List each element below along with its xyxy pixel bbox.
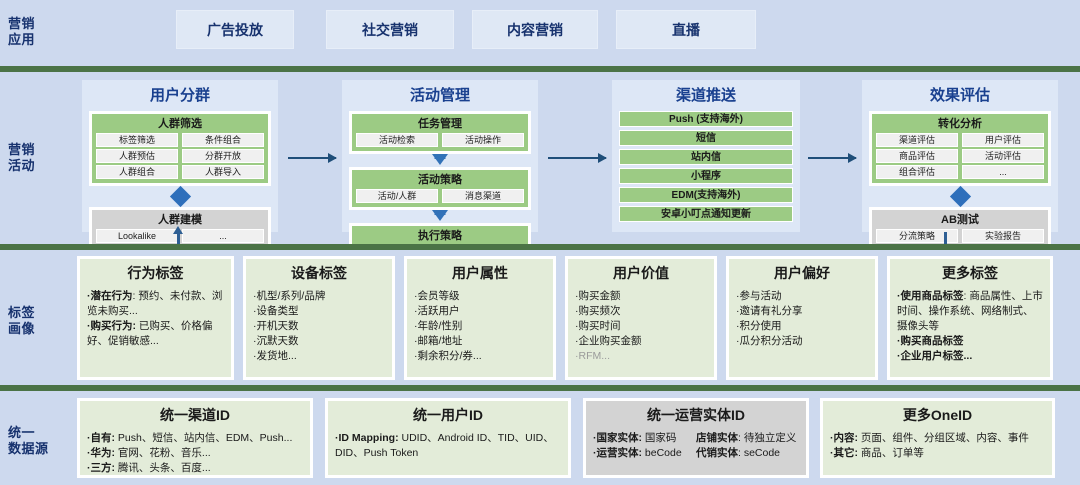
datasource-line-text: Push、短信、站内信、EDM、Push... [115,432,292,444]
group-cell[interactable]: 用户评估 [962,133,1044,147]
tag-card-device[interactable]: 设备标签 ·机型/系列/品牌 ·设备类型 ·开机天数 ·沉默天数 ·发货地... [243,256,395,380]
tag-line: ·剩余积分/券... [414,349,546,364]
datasource-line-bold: 代销实体 [696,447,738,459]
tag-card-title: 用户价值 [575,264,707,283]
tag-line: ·购买时间 [575,319,707,334]
app-card-3[interactable]: 直播 [616,10,756,49]
datasource-line-bold: ·三方: [87,462,115,474]
datasource-card-operating-entity-id[interactable]: 统一运营实体ID ·国家实体: 国家码 ·运营实体: beCode 店铺实体: … [583,398,809,478]
datasource-line-text: : 待独立定义 [738,432,796,444]
group-cell[interactable]: ... [962,165,1044,179]
datasource-line-bold: ·内容: [830,432,858,444]
tag-line: ·购买金额 [575,289,707,304]
datasource-line-text: : seCode [738,447,780,459]
group-head: 人群建模 [96,213,264,227]
datasource-card-title: 统一运营实体ID [593,406,799,425]
datasource-card-title: 统一渠道ID [87,406,303,425]
tag-line: ·使用商品标签: 商品属性、上市时间、操作系统、网络制式、摄像头等 [897,289,1043,334]
tag-line: ·购买行为: 已购买、价格偏好、促销敏感... [87,319,224,349]
app-card-1[interactable]: 社交营销 [326,10,454,49]
datasource-line: ·三方: 腾讯、头条、百度... [87,461,303,476]
panel-effect-evaluation: 效果评估 转化分析 渠道评估 用户评估 商品评估 活动评估 组合评估 ... A… [862,80,1058,232]
tag-line: ·参与活动 [736,289,868,304]
tag-card-user-value[interactable]: 用户价值 ·购买金额 ·购买频次 ·购买时间 ·企业购买金额 ·RFM... [565,256,717,380]
datasource-line-bold: ·其它: [830,447,858,459]
tag-line-bold: ·购买行为: [87,320,136,332]
datasource-line-bold: ·国家实体: [593,432,642,444]
group-cell[interactable]: Lookalike [96,229,178,243]
datasource-column-right: 店铺实体: 待独立定义 代销实体: seCode [696,431,799,461]
tag-card-user-attributes[interactable]: 用户属性 ·会员等级 ·活跃用户 ·年龄/性别 ·邮箱/地址 ·剩余积分/券..… [404,256,556,380]
tag-card-user-preference[interactable]: 用户偏好 ·参与活动 ·邀请有礼分享 ·积分使用 ·瓜分积分活动 [726,256,878,380]
tag-line: ·潜在行为: 预约、未付款、浏览未购买... [87,289,224,319]
tag-card-title: 行为标签 [87,264,224,283]
datasource-column-left: ·国家实体: 国家码 ·运营实体: beCode [593,431,696,461]
architecture-diagram: 营销 应用 广告投放 社交营销 内容营销 直播 营销 活动 用户分群 人群筛选 … [0,0,1080,485]
channel-item[interactable]: 站内信 [619,149,793,165]
panel-title: 用户分群 [89,86,271,106]
group-head: AB测试 [876,213,1044,227]
tag-line: ·瓜分积分活动 [736,334,868,349]
tag-line: ·RFM... [575,349,707,364]
group-conversion-analysis: 转化分析 渠道评估 用户评估 商品评估 活动评估 组合评估 ... [869,111,1051,186]
row-label-datasources: 统一 数据源 [8,425,70,457]
tag-line: ·购买商品标签 [897,334,1043,349]
datasource-line-bold: ·ID Mapping: [335,432,399,444]
datasource-line: ·国家实体: 国家码 [593,431,696,446]
app-card-2[interactable]: 内容营销 [472,10,598,49]
row-label-activity: 营销 活动 [8,142,70,174]
flow-arrow-3-icon [808,157,856,159]
app-card-label: 直播 [672,20,700,40]
tag-line: ·会员等级 [414,289,546,304]
flow-arrow-2-icon [548,157,606,159]
group-cell[interactable]: 人群预估 [96,149,178,163]
group-cell[interactable]: ... [182,229,264,243]
group-cell[interactable]: 分群开放 [182,149,264,163]
channel-item[interactable]: 安卓小叮点通知更新 [619,206,793,222]
group-cell[interactable]: 人群组合 [96,165,178,179]
tag-line: ·沉默天数 [253,334,385,349]
datasource-line: ·运营实体: beCode [593,446,696,461]
group-head: 活动策略 [356,173,524,187]
tag-line: ·购买频次 [575,304,707,319]
flow-arrow-1-icon [288,157,336,159]
group-cell[interactable]: 人群导入 [182,165,264,179]
datasource-line: ·其它: 商品、订单等 [830,446,1045,461]
down-arrow-icon [349,154,531,167]
group-cell[interactable]: 活动评估 [962,149,1044,163]
group-head: 任务管理 [356,117,524,131]
datasource-card-more-oneid[interactable]: 更多OneID ·内容: 页面、组件、分组区域、内容、事件 ·其它: 商品、订单… [820,398,1055,478]
datasource-line: ·ID Mapping: UDID、Android ID、TID、UID、DID… [335,431,561,461]
tag-card-behavior[interactable]: 行为标签 ·潜在行为: 预约、未付款、浏览未购买... ·购买行为: 已购买、价… [77,256,234,380]
datasource-line-text: 页面、组件、分组区域、内容、事件 [858,432,1029,444]
group-cell[interactable]: 消息渠道 [442,189,524,203]
tag-line: ·邀请有礼分享 [736,304,868,319]
tag-line: ·机型/系列/品牌 [253,289,385,304]
app-card-label: 内容营销 [507,20,563,40]
tag-card-more-tags[interactable]: 更多标签 ·使用商品标签: 商品属性、上市时间、操作系统、网络制式、摄像头等 ·… [887,256,1053,380]
panel-title: 活动管理 [349,86,531,106]
tag-line: ·开机天数 [253,319,385,334]
group-cell[interactable]: 条件组合 [182,133,264,147]
tag-line: ·发货地... [253,349,385,364]
datasource-line: 代销实体: seCode [696,446,799,461]
datasource-card-user-id[interactable]: 统一用户ID ·ID Mapping: UDID、Android ID、TID、… [325,398,571,478]
tag-line-bold: ·企业用户标签... [897,350,972,362]
panel-campaign-management: 活动管理 任务管理 活动检索 活动操作 活动策略 活动/人群 消息渠道 [342,80,538,232]
group-cell[interactable]: 标签筛选 [96,133,178,147]
datasource-line-bold: 店铺实体 [696,432,738,444]
datasource-card-channel-id[interactable]: 统一渠道ID ·自有: Push、短信、站内信、EDM、Push... ·华为:… [77,398,313,478]
datasource-line-text: 国家码 [642,432,676,444]
feedback-up-arrow-icon [173,226,183,234]
datasource-line-text: 腾讯、头条、百度... [115,462,211,474]
group-cell[interactable]: 活动/人群 [356,189,438,203]
group-cell[interactable]: 渠道评估 [876,133,958,147]
panel-title: 效果评估 [869,86,1051,106]
row-label-applications: 营销 应用 [8,16,70,48]
group-head: 转化分析 [876,117,1044,131]
tag-card-title: 更多标签 [897,264,1043,283]
channel-item[interactable]: Push (支持海外) [619,111,793,127]
tag-line: ·企业用户标签... [897,349,1043,364]
tag-card-title: 用户偏好 [736,264,868,283]
tag-line: ·活跃用户 [414,304,546,319]
group-cell[interactable]: 商品评估 [876,149,958,163]
datasource-two-column: ·国家实体: 国家码 ·运营实体: beCode 店铺实体: 待独立定义 代销实… [593,431,799,461]
tag-line: ·年龄/性别 [414,319,546,334]
tag-line: ·邮箱/地址 [414,334,546,349]
tag-line-bold: ·使用商品标签 [897,290,964,302]
datasource-line-text: beCode [642,447,682,459]
group-campaign-strategy: 活动策略 活动/人群 消息渠道 [349,167,531,210]
row-label-tags: 标签 画像 [8,305,70,337]
tag-line: ·企业购买金额 [575,334,707,349]
datasource-card-title: 更多OneID [830,406,1045,425]
down-arrow-icon [349,210,531,223]
group-cell[interactable]: 活动检索 [356,133,438,147]
group-cell[interactable]: 组合评估 [876,165,958,179]
channel-item[interactable]: 短信 [619,130,793,146]
tag-line: ·积分使用 [736,319,868,334]
app-card-label: 广告投放 [207,20,263,40]
datasource-line-text: 官网、花粉、音乐... [115,447,211,459]
tag-card-title: 用户属性 [414,264,546,283]
datasource-line: 店铺实体: 待独立定义 [696,431,799,446]
tag-line-bold: ·购买商品标签 [897,335,964,347]
tag-line: ·设备类型 [253,304,385,319]
datasource-line: ·自有: Push、短信、站内信、EDM、Push... [87,431,303,446]
app-card-label: 社交营销 [362,20,418,40]
group-task-management: 任务管理 活动检索 活动操作 [349,111,531,154]
datasource-line-bold: ·华为: [87,447,115,459]
app-card-0[interactable]: 广告投放 [176,10,294,49]
datasource-line-text: 商品、订单等 [858,447,924,459]
diamond-connector-icon [169,186,190,207]
tag-card-title: 设备标签 [253,264,385,283]
datasource-line: ·华为: 官网、花粉、音乐... [87,446,303,461]
group-crowd-filter: 人群筛选 标签筛选 条件组合 人群预估 分群开放 人群组合 人群导入 [89,111,271,186]
diamond-connector-icon [949,186,970,207]
group-cell[interactable]: 活动操作 [442,133,524,147]
channel-item[interactable]: EDM(支持海外) [619,187,793,203]
group-cell[interactable]: 实验报告 [962,229,1044,243]
datasource-card-title: 统一用户ID [335,406,561,425]
channel-item[interactable]: 小程序 [619,168,793,184]
panel-user-segmentation: 用户分群 人群筛选 标签筛选 条件组合 人群预估 分群开放 人群组合 人群导入 … [82,80,278,232]
panel-title: 渠道推送 [619,86,793,106]
group-head: 执行策略 [356,229,524,243]
channel-list: Push (支持海外) 短信 站内信 小程序 EDM(支持海外) 安卓小叮点通知… [619,111,793,222]
datasource-line: ·内容: 页面、组件、分组区域、内容、事件 [830,431,1045,446]
panel-channel-push: 渠道推送 Push (支持海外) 短信 站内信 小程序 EDM(支持海外) 安卓… [612,80,800,232]
group-head: 人群筛选 [96,117,264,131]
tag-line-bold: ·潜在行为 [87,290,133,302]
datasource-line-bold: ·运营实体: [593,447,642,459]
datasource-line-bold: ·自有: [87,432,115,444]
